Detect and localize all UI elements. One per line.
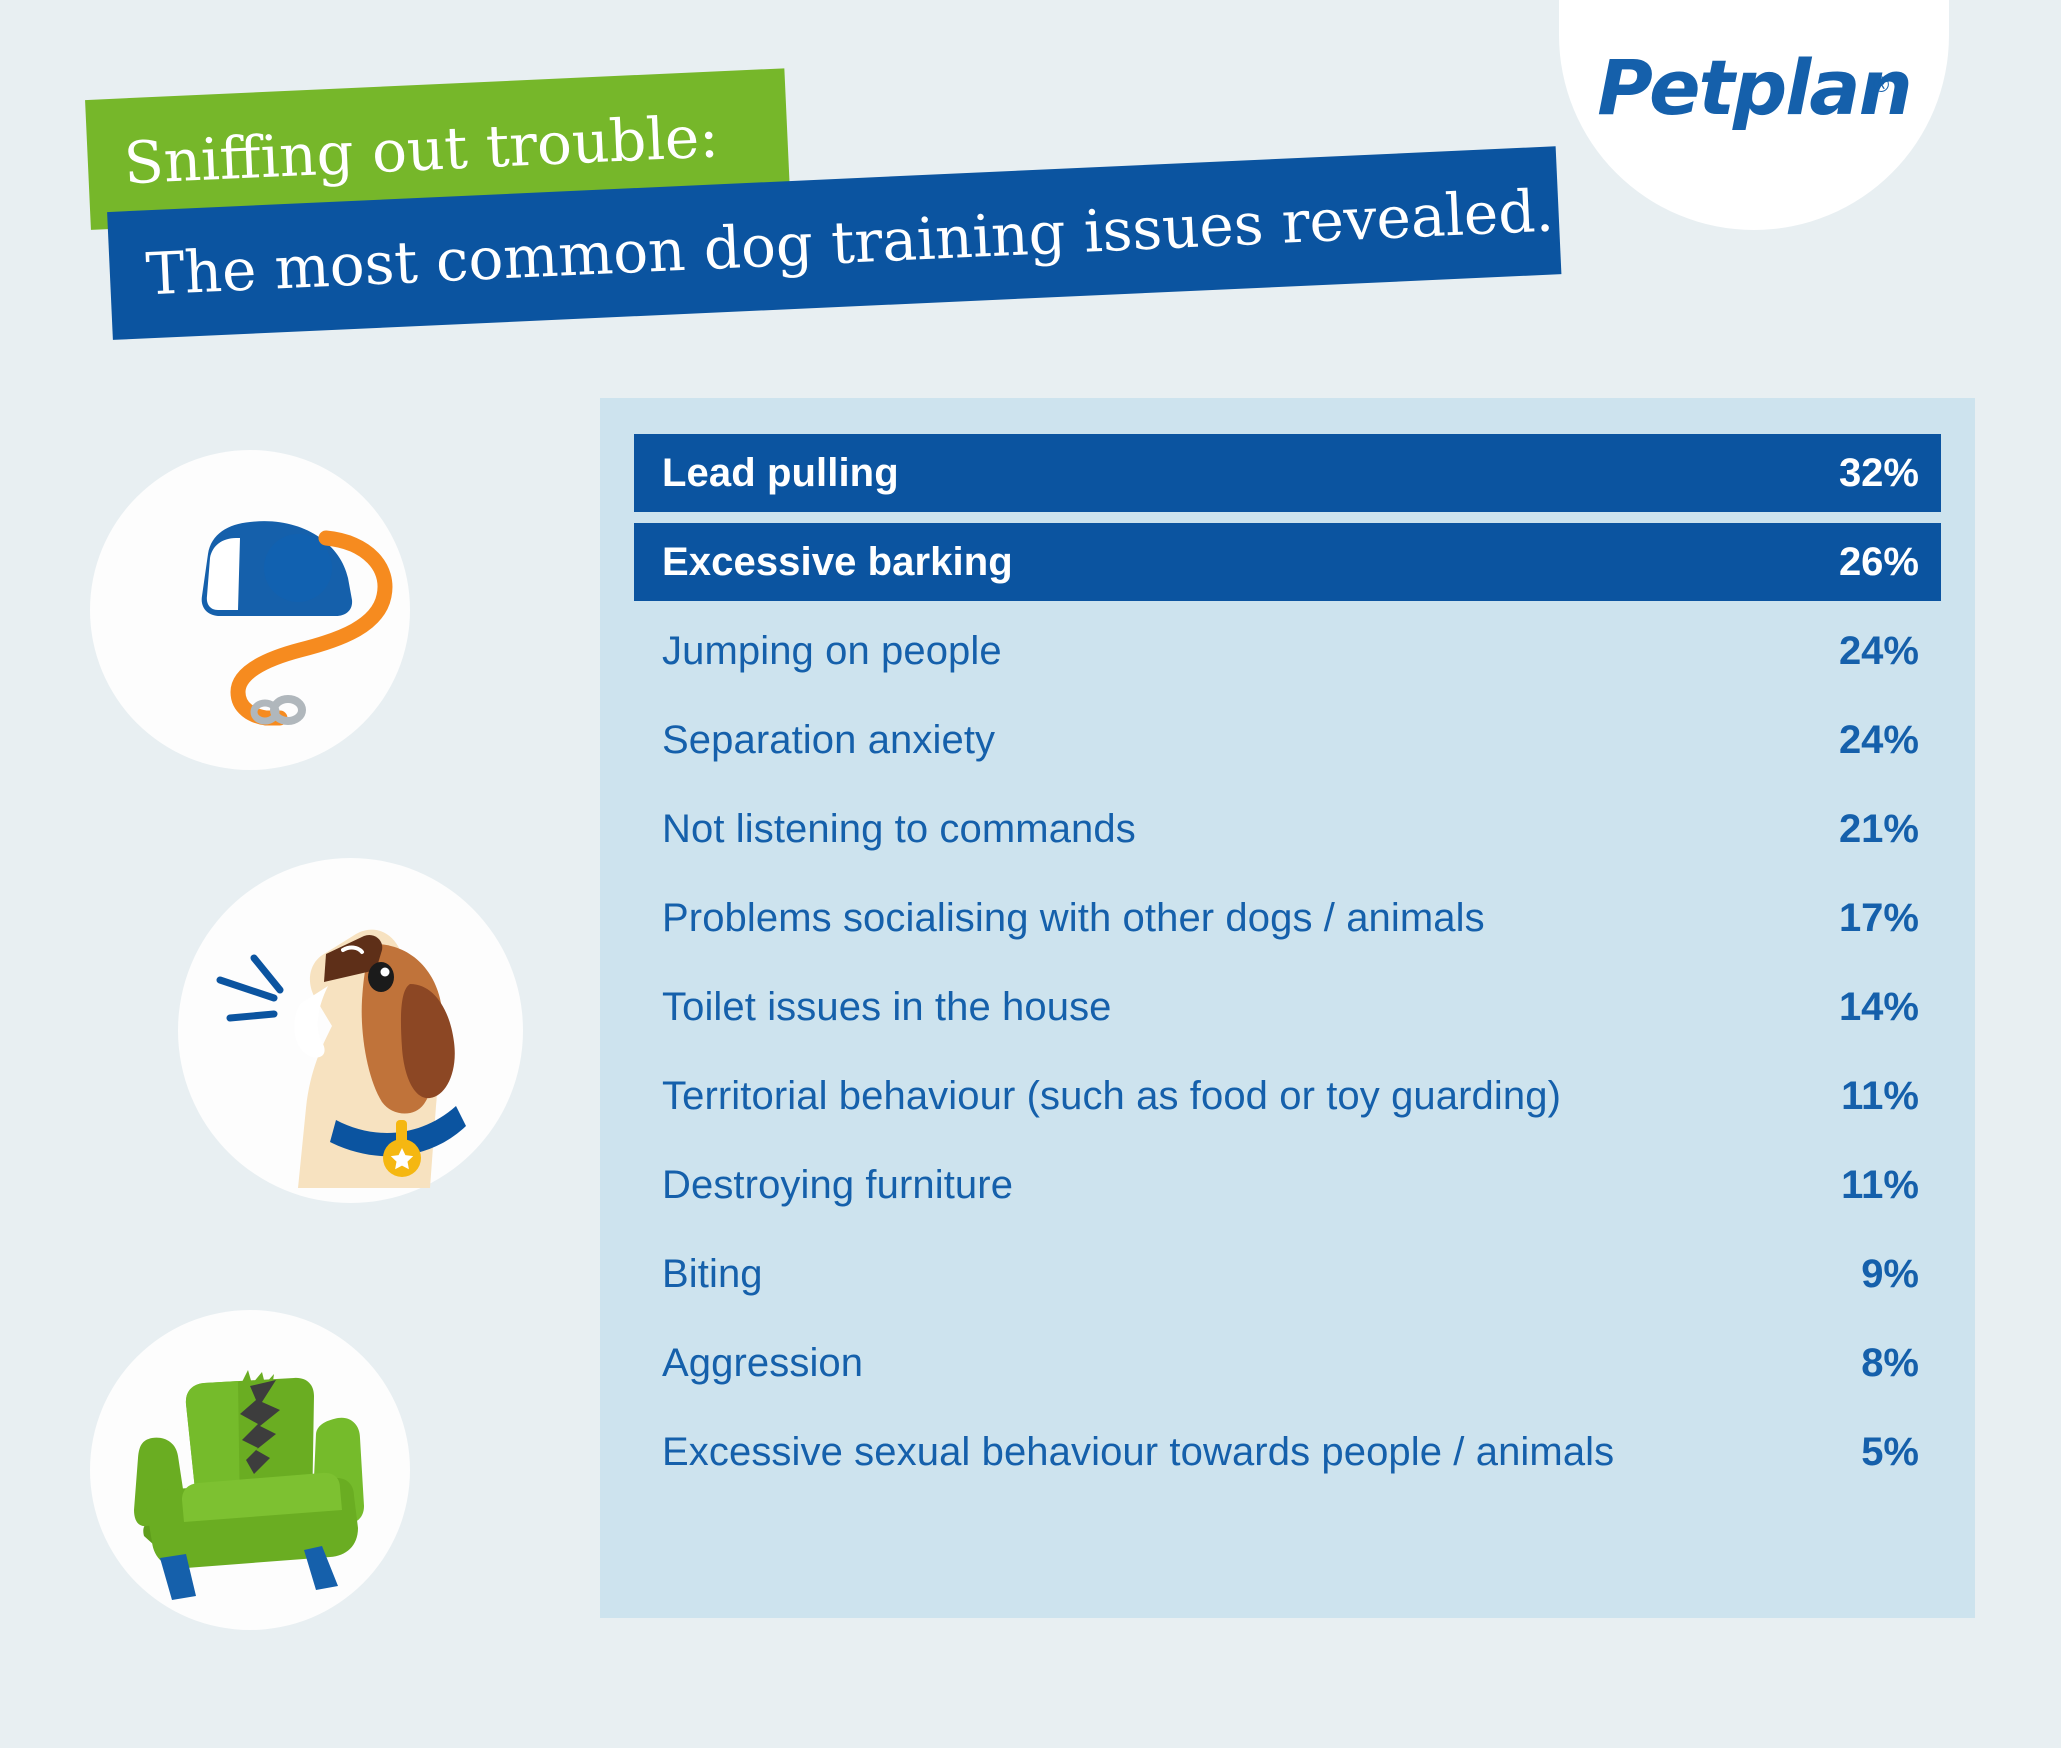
stat-row: Problems socialising with other dogs / a… <box>634 879 1941 957</box>
stat-value: 11% <box>1799 1163 1919 1208</box>
stat-row: Not listening to commands21% <box>634 790 1941 868</box>
stat-row: Jumping on people24% <box>634 612 1941 690</box>
training-issues-panel: Lead pulling32%Excessive barking26%Jumpi… <box>600 398 1975 1618</box>
stat-value: 9% <box>1799 1252 1919 1297</box>
stat-value: 5% <box>1799 1430 1919 1475</box>
petplan-wordmark: Petplan <box>1559 50 1949 126</box>
torn-sofa-icon <box>90 1310 410 1630</box>
registered-trademark-icon: ® <box>1873 72 1889 98</box>
stat-label: Separation anxiety <box>662 718 995 763</box>
stat-value: 26% <box>1799 540 1919 585</box>
stat-label: Aggression <box>662 1341 863 1386</box>
stat-value: 21% <box>1799 807 1919 852</box>
petplan-logo-badge: Petplan <box>1559 0 1949 230</box>
stat-label: Problems socialising with other dogs / a… <box>662 896 1485 941</box>
stat-label: Lead pulling <box>662 451 899 496</box>
header-eyebrow-text: Sniffing out trouble: <box>122 102 720 197</box>
stat-label: Not listening to commands <box>662 807 1136 852</box>
stat-row: Destroying furniture11% <box>634 1146 1941 1224</box>
stat-label: Destroying furniture <box>662 1163 1013 1208</box>
stat-row: Territorial behaviour (such as food or t… <box>634 1057 1941 1135</box>
stat-row: Excessive barking26% <box>634 523 1941 601</box>
stat-label: Toilet issues in the house <box>662 985 1112 1030</box>
stat-row: Separation anxiety24% <box>634 701 1941 779</box>
stat-value: 14% <box>1799 985 1919 1030</box>
stat-label: Territorial behaviour (such as food or t… <box>662 1074 1561 1119</box>
stat-row: Biting9% <box>634 1235 1941 1313</box>
stat-value: 24% <box>1799 629 1919 674</box>
training-issues-list: Lead pulling32%Excessive barking26%Jumpi… <box>634 434 1941 1502</box>
stat-value: 11% <box>1799 1074 1919 1119</box>
retractable-leash-icon <box>90 450 410 770</box>
stat-value: 17% <box>1799 896 1919 941</box>
barking-dog-icon <box>178 858 523 1203</box>
stat-label: Jumping on people <box>662 629 1002 674</box>
stat-value: 24% <box>1799 718 1919 763</box>
stat-row: Toilet issues in the house14% <box>634 968 1941 1046</box>
stat-row: Aggression8% <box>634 1324 1941 1402</box>
stat-value: 32% <box>1799 451 1919 496</box>
stat-value: 8% <box>1799 1341 1919 1386</box>
stat-label: Excessive sexual behaviour towards peopl… <box>662 1430 1614 1475</box>
stat-row: Lead pulling32% <box>634 434 1941 512</box>
stat-label: Biting <box>662 1252 763 1297</box>
stat-label: Excessive barking <box>662 540 1013 585</box>
stat-row: Excessive sexual behaviour towards peopl… <box>634 1413 1941 1491</box>
